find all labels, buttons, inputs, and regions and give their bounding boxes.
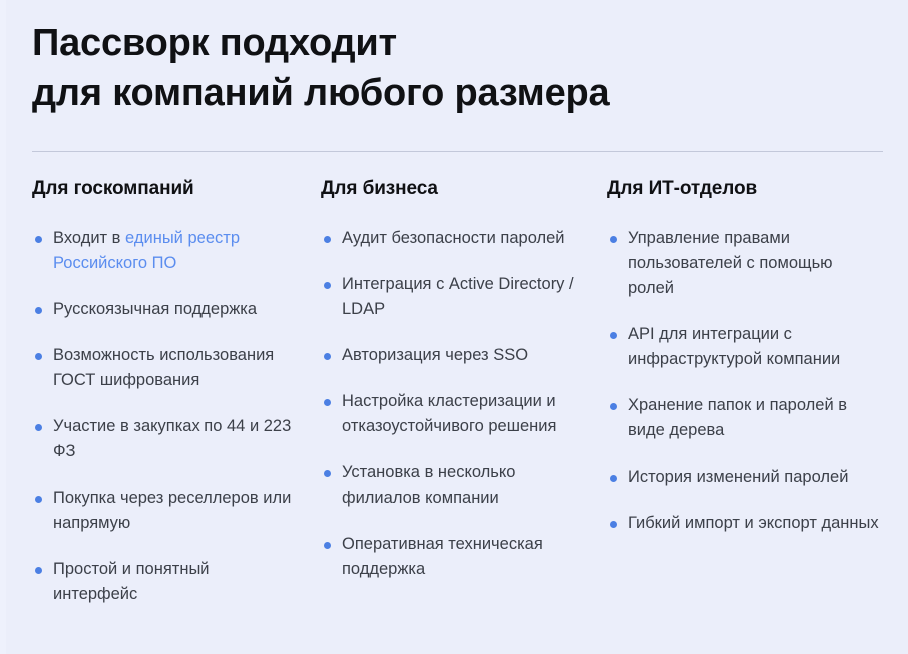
bullet-dot-icon <box>610 403 617 410</box>
bullet-dot-icon <box>610 236 617 243</box>
column-heading: Для госкомпаний <box>32 178 295 200</box>
list-item-text: API для интеграции с инфраструктурой ком… <box>628 325 840 368</box>
column-heading: Для ИТ-отделов <box>607 178 880 200</box>
section-divider <box>32 151 883 152</box>
bullet-dot-icon <box>35 424 42 431</box>
bullet-dot-icon <box>610 475 617 482</box>
list-item-text: Установка в несколько филиалов компании <box>342 463 515 506</box>
feature-column-2: Для ИТ-отделовУправление правами пользов… <box>607 178 884 536</box>
list-item: Управление правами пользователей с помощ… <box>607 226 880 301</box>
bullet-dot-icon <box>324 353 331 360</box>
list-item-text: Авторизация через SSO <box>342 346 528 364</box>
list-item-text: Русскоязычная поддержка <box>53 300 257 318</box>
feature-list: Аудит безопасности паролейИнтеграция с A… <box>321 226 581 582</box>
list-item: Покупка через реселлеров или напрямую <box>32 486 295 536</box>
list-item: API для интеграции с инфраструктурой ком… <box>607 322 880 372</box>
bullet-dot-icon <box>35 307 42 314</box>
list-item: Гибкий импорт и экспорт данных <box>607 511 880 536</box>
list-item: Интеграция с Active Directory / LDAP <box>321 272 581 322</box>
bullet-dot-icon <box>324 399 331 406</box>
content-container: Пассворк подходит для компаний любого ра… <box>32 0 884 654</box>
list-item-text: Возможность использования ГОСТ шифровани… <box>53 346 274 389</box>
bullet-dot-icon <box>35 353 42 360</box>
bullet-dot-icon <box>324 470 331 477</box>
list-item: Участие в закупках по 44 и 223 ФЗ <box>32 414 295 464</box>
feature-column-0: Для госкомпанийВходит в единый реестр Ро… <box>32 178 321 607</box>
bullet-dot-icon <box>610 332 617 339</box>
list-item-text: Простой и понятный интерфейс <box>53 560 210 603</box>
list-item: Входит в единый реестр Российского ПО <box>32 226 295 276</box>
bullet-dot-icon <box>610 521 617 528</box>
list-item-text: Интеграция с Active Directory / LDAP <box>342 275 574 318</box>
list-item: Установка в несколько филиалов компании <box>321 460 581 510</box>
page-root: Пассворк подходит для компаний любого ра… <box>0 0 908 654</box>
feature-list: Входит в единый реестр Российского ПОРус… <box>32 226 295 607</box>
list-item-text: Аудит безопасности паролей <box>342 229 565 247</box>
bullet-dot-icon <box>35 567 42 574</box>
list-item: Настройка кластеризации и отказоустойчив… <box>321 389 581 439</box>
list-item-text: Настройка кластеризации и отказоустойчив… <box>342 392 556 435</box>
list-item-text: Управление правами пользователей с помощ… <box>628 229 833 297</box>
column-heading: Для бизнеса <box>321 178 581 200</box>
feature-list: Управление правами пользователей с помощ… <box>607 226 880 536</box>
list-item: Оперативная техническая поддержка <box>321 532 581 582</box>
left-edge-strip <box>0 0 6 654</box>
bullet-dot-icon <box>35 236 42 243</box>
list-item: Возможность использования ГОСТ шифровани… <box>32 343 295 393</box>
feature-column-1: Для бизнесаАудит безопасности паролейИнт… <box>321 178 607 582</box>
list-item: История изменений паролей <box>607 465 880 490</box>
list-item-text: Гибкий импорт и экспорт данных <box>628 514 879 532</box>
list-item: Простой и понятный интерфейс <box>32 557 295 607</box>
feature-columns: Для госкомпанийВходит в единый реестр Ро… <box>32 178 884 607</box>
list-item: Аудит безопасности паролей <box>321 226 581 251</box>
list-item-text: Входит в <box>53 229 125 247</box>
list-item: Хранение папок и паролей в виде дерева <box>607 393 880 443</box>
list-item: Авторизация через SSO <box>321 343 581 368</box>
list-item-text: Хранение папок и паролей в виде дерева <box>628 396 847 439</box>
list-item-text: История изменений паролей <box>628 468 848 486</box>
page-title: Пассворк подходит для компаний любого ра… <box>32 0 884 118</box>
bullet-dot-icon <box>324 542 331 549</box>
bullet-dot-icon <box>324 236 331 243</box>
list-item-text: Оперативная техническая поддержка <box>342 535 543 578</box>
bullet-dot-icon <box>35 496 42 503</box>
bullet-dot-icon <box>324 282 331 289</box>
list-item-text: Покупка через реселлеров или напрямую <box>53 489 291 532</box>
list-item: Русскоязычная поддержка <box>32 297 295 322</box>
list-item-text: Участие в закупках по 44 и 223 ФЗ <box>53 417 291 460</box>
